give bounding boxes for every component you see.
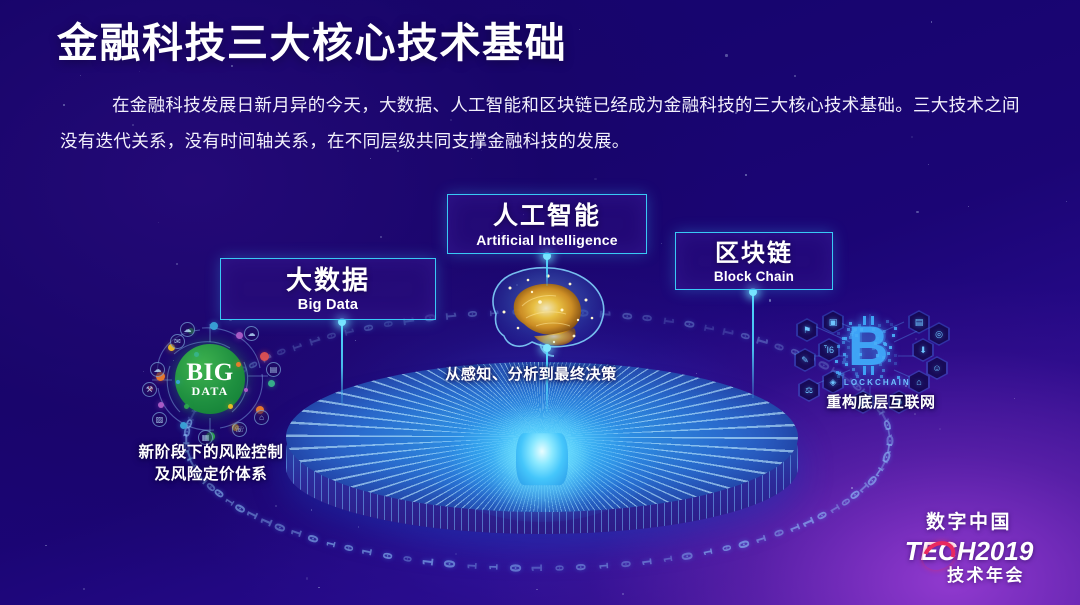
pillar-box-block-chain[interactable]: 区块链 Block Chain xyxy=(675,232,833,290)
background-star xyxy=(306,577,308,579)
pillar-label-en-big-data: Big Data xyxy=(221,297,435,313)
binary-digit: 0 xyxy=(886,432,895,449)
big-data-mini-icon: ▨ xyxy=(152,412,167,427)
logo-line-bottom: 技术年会 xyxy=(928,565,1044,587)
binary-digit: 1 xyxy=(342,327,357,337)
bitcoin-b-bottom-stroke xyxy=(863,366,866,375)
blockchain-pixel xyxy=(856,375,859,378)
binary-digit: 1 xyxy=(639,557,655,566)
pillar-label-cn-big-data: 大数据 xyxy=(221,266,435,296)
binary-digit: 0 xyxy=(881,416,893,433)
caption-artificial-intelligence: 从感知、分析到最终决策 xyxy=(408,364,654,386)
binary-digit: 0 xyxy=(737,331,752,342)
big-data-node-dot xyxy=(180,422,187,429)
blockchain-pixel xyxy=(841,373,844,376)
binary-digit: 0 xyxy=(211,487,228,502)
blockchain-pixel xyxy=(876,354,879,357)
blockchain-pixel xyxy=(854,328,857,331)
binary-digit: 1 xyxy=(877,456,891,473)
big-data-mini-icon: ⚒ xyxy=(142,382,157,397)
blockchain-pixel xyxy=(889,346,892,349)
binary-digit: 1 xyxy=(222,495,237,508)
background-star xyxy=(622,593,624,595)
logo-tech-row: TECH2019 xyxy=(894,538,1044,564)
binary-digit: 1 xyxy=(800,514,819,529)
blockchain-pixel xyxy=(876,337,879,340)
page-title: 金融科技三大核心技术基础 xyxy=(57,18,567,69)
background-star xyxy=(80,75,81,76)
big-data-node-dot xyxy=(158,402,164,408)
big-data-icon-cluster: BIG DATA ☁☁☁▤⌂▦▨⚒☏✉ xyxy=(140,318,280,440)
background-star xyxy=(83,588,85,590)
binary-digit: 1 xyxy=(857,479,874,495)
binary-digit: 1 xyxy=(827,502,844,516)
disc-core-node xyxy=(516,433,568,485)
bitcoin-b-top-stroke-2 xyxy=(871,316,874,325)
blockchain-pixel xyxy=(894,362,897,365)
binary-digit: 1 xyxy=(884,441,894,456)
big-data-mini-icon: ☏ xyxy=(232,422,247,437)
blockchain-pixel xyxy=(887,352,890,355)
blockchain-pixel xyxy=(855,334,858,337)
binary-digit: 1 xyxy=(257,514,276,529)
background-star xyxy=(318,587,320,589)
binary-digit: 0 xyxy=(323,331,338,342)
binary-digit: 1 xyxy=(421,557,438,567)
big-data-node-dot xyxy=(244,388,248,392)
big-data-node-dot xyxy=(236,332,243,339)
big-data-mini-icon: ▤ xyxy=(266,362,281,377)
blockchain-pixel xyxy=(883,342,886,345)
blockchain-pixel xyxy=(837,375,840,378)
binary-digit: 1 xyxy=(718,326,736,338)
binary-digit: 1 xyxy=(530,564,546,572)
blockchain-pixel xyxy=(874,342,877,345)
binary-digit: 1 xyxy=(885,424,894,439)
blockchain-pixel xyxy=(894,327,897,330)
blockchain-pixel xyxy=(838,372,841,375)
binary-digit: 1 xyxy=(752,334,772,348)
binary-digit: 1 xyxy=(659,316,676,326)
blockchain-pixel xyxy=(849,322,852,325)
blockchain-pixel xyxy=(892,334,895,337)
blockchain-pixel xyxy=(860,329,863,332)
caption-block-chain: 重构底层互联网 xyxy=(786,392,976,414)
background-star xyxy=(939,428,941,430)
blockchain-pixel xyxy=(845,363,848,366)
binary-digit: 0 xyxy=(381,320,396,329)
blockchain-pixel xyxy=(843,353,846,356)
binary-digit: 0 xyxy=(848,487,865,503)
big-data-node-dot xyxy=(184,404,189,409)
event-logo: 数字中国 TECH2019 技术年会 xyxy=(894,511,1044,587)
background-star xyxy=(968,206,969,207)
blockchain-pixel xyxy=(837,332,840,335)
big-data-node-dot xyxy=(236,362,241,367)
binary-digit: 1 xyxy=(244,508,262,523)
blockchain-pixel xyxy=(882,369,885,372)
pillar-label-cn-block-chain: 区块链 xyxy=(676,240,832,268)
big-data-mini-icon: ✉ xyxy=(170,334,185,349)
pillar-box-big-data[interactable]: 大数据 Big Data xyxy=(220,258,436,320)
blockchain-pixel xyxy=(835,360,838,363)
binary-digit: 1 xyxy=(442,311,459,321)
binary-digit: 0 xyxy=(402,555,416,563)
blockchain-pixel xyxy=(842,361,845,364)
binary-digit: 0 xyxy=(680,319,696,329)
big-data-node-dot xyxy=(210,322,218,330)
background-star xyxy=(928,164,929,165)
blockchain-pixel xyxy=(847,346,850,349)
binary-digit: 1 xyxy=(699,323,715,334)
background-star xyxy=(594,178,596,180)
bitcoin-b-glyph: B xyxy=(848,318,888,374)
blockchain-pixel xyxy=(897,376,900,379)
caption-big-data: 新阶段下的风险控制 及风险定价体系 xyxy=(96,442,326,487)
blockchain-pixel xyxy=(837,345,840,348)
background-star xyxy=(455,553,457,555)
background-star xyxy=(931,21,932,22)
logo-line-top: 数字中国 xyxy=(894,511,1044,536)
binary-digit: 0 xyxy=(771,341,788,353)
binary-digit: 1 xyxy=(872,464,886,480)
blockchain-pixel xyxy=(882,330,885,333)
binary-digit: 0 xyxy=(618,559,634,568)
binary-digit: 0 xyxy=(814,508,831,522)
blockchain-pixel xyxy=(894,354,897,357)
binary-digit: 0 xyxy=(839,495,855,509)
binary-digit: 0 xyxy=(554,564,567,571)
blockchain-pixel xyxy=(872,347,875,350)
big-data-mini-icon: ☁ xyxy=(150,362,165,377)
big-data-node-dot xyxy=(268,380,275,387)
background-star xyxy=(275,505,277,507)
big-data-badge-bottom: DATA xyxy=(191,385,228,397)
background-star xyxy=(769,299,771,301)
background-star xyxy=(139,71,140,72)
big-data-node-dot xyxy=(228,404,233,409)
blockchain-wordmark: BLOCKCHAIN xyxy=(836,378,911,387)
binary-digit: 0 xyxy=(639,314,655,323)
blockchain-pixel xyxy=(878,324,881,327)
big-data-mini-icon: ☁ xyxy=(244,326,259,341)
intro-paragraph: 在金融科技发展日新月异的今天，大数据、人工智能和区块链已经成为金融科技的三大核心… xyxy=(60,88,1022,160)
background-star xyxy=(794,75,796,77)
binary-digit: 0 xyxy=(864,471,881,489)
bitcoin-b-bottom-stroke-2 xyxy=(871,366,874,375)
big-data-node-dot xyxy=(260,352,269,361)
blockchain-pixel xyxy=(890,323,893,326)
background-star xyxy=(1066,201,1067,202)
blockchain-pixel xyxy=(888,359,891,362)
background-star xyxy=(380,236,382,238)
pillar-label-en-ai: Artificial Intelligence xyxy=(448,232,646,248)
background-star xyxy=(661,243,663,245)
ai-brain-illustration xyxy=(474,258,624,358)
binary-digit: 0 xyxy=(574,563,589,571)
big-data-node-dot xyxy=(194,352,199,357)
background-star xyxy=(851,487,853,489)
background-star xyxy=(916,211,918,213)
background-star xyxy=(158,222,159,223)
binary-digit: 0 xyxy=(441,559,460,570)
pillar-label-en-block-chain: Block Chain xyxy=(676,269,832,284)
binary-digit: 0 xyxy=(381,551,396,561)
binary-digit: 1 xyxy=(305,335,323,348)
blockchain-pixel xyxy=(886,320,889,323)
binary-digit: 1 xyxy=(487,563,500,570)
background-star xyxy=(45,545,47,547)
blockchain-pixel xyxy=(850,333,853,336)
binary-digit: 0 xyxy=(232,501,250,516)
blockchain-pixel xyxy=(852,368,855,371)
big-data-badge-top: BIG xyxy=(186,361,233,385)
pillar-box-artificial-intelligence[interactable]: 人工智能 Artificial Intelligence xyxy=(447,194,647,254)
background-star xyxy=(176,263,178,265)
background-star xyxy=(355,340,356,341)
slide-root: 金融科技三大核心技术基础 在金融科技发展日新月异的今天，大数据、人工智能和区块链… xyxy=(0,0,1080,605)
background-star xyxy=(536,589,537,590)
big-data-node-dot xyxy=(176,380,180,384)
binary-digit: 0 xyxy=(881,447,894,465)
pillar-label-cn-ai: 人工智能 xyxy=(448,202,646,231)
binary-digit: 1 xyxy=(597,562,611,570)
big-data-mini-icon: ⌂ xyxy=(254,410,269,425)
background-star xyxy=(579,29,581,31)
background-star xyxy=(1014,398,1016,400)
blockchain-pixel xyxy=(847,328,850,331)
blockchain-pixel xyxy=(842,341,845,344)
blockchain-pixel xyxy=(872,328,875,331)
blockchain-pixel xyxy=(882,356,885,359)
binary-digit: 0 xyxy=(507,563,525,572)
blockchain-pixel xyxy=(844,337,847,340)
blockchain-pixel xyxy=(880,375,883,378)
binary-digit: 0 xyxy=(361,323,376,333)
background-star xyxy=(725,54,727,56)
blockchain-pixel xyxy=(849,336,852,339)
binary-digit: 1 xyxy=(289,341,305,353)
blockchain-pixel xyxy=(859,353,862,356)
central-platform-disc xyxy=(286,362,798,552)
blockchain-pixel xyxy=(879,363,882,366)
background-star xyxy=(745,174,747,176)
binary-digit: 1 xyxy=(660,555,675,564)
binary-digit: 1 xyxy=(464,561,479,569)
bitcoin-b-top-stroke xyxy=(863,316,866,325)
